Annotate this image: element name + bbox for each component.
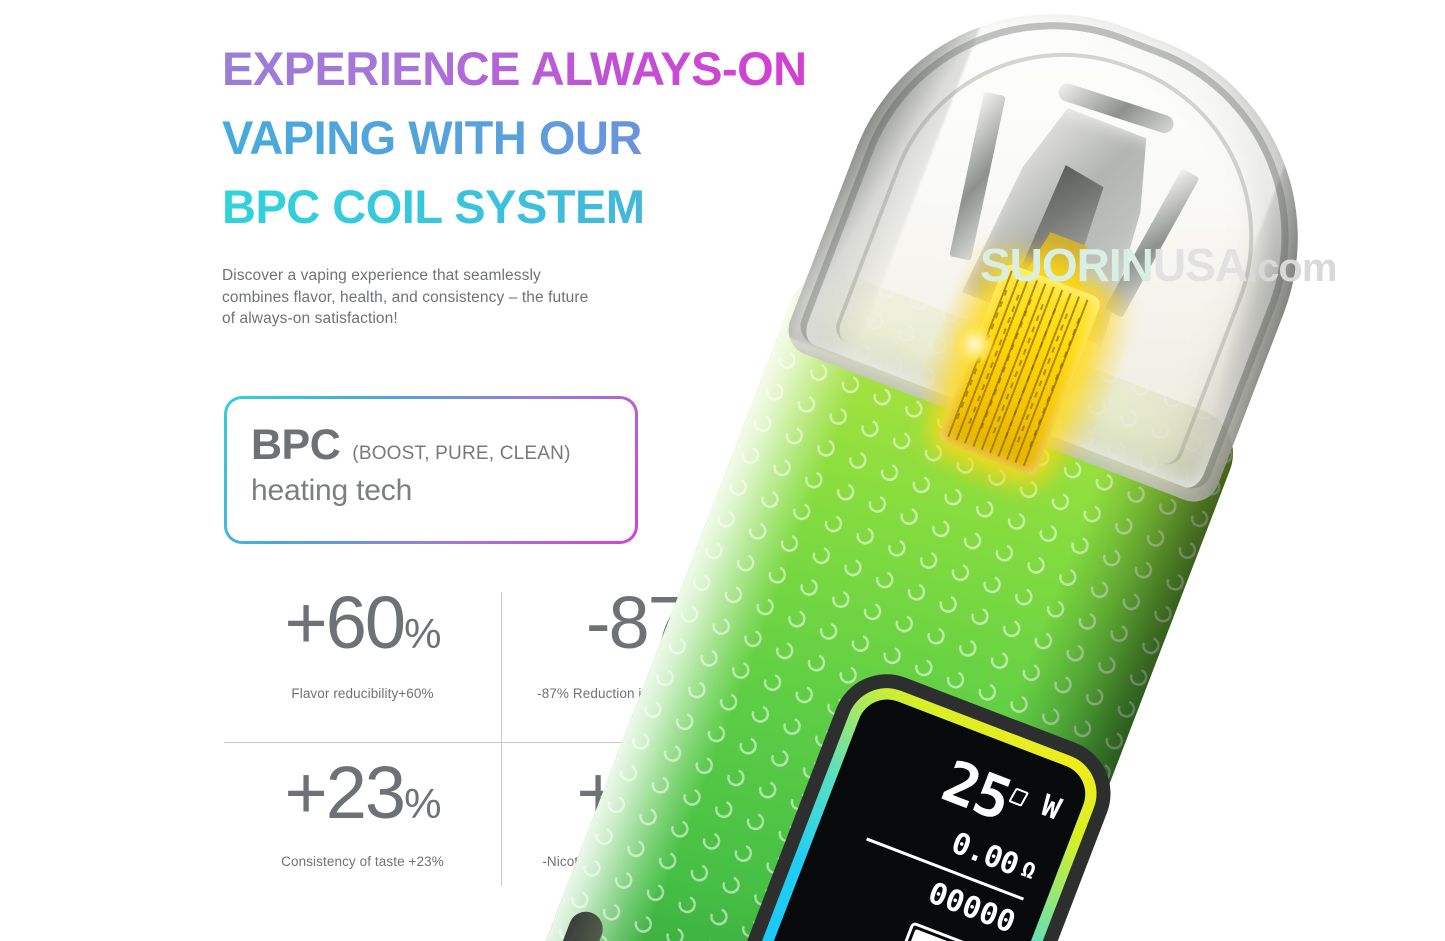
- chrome-strut-top: [1056, 81, 1176, 135]
- bpc-badge: BPC(BOOST, PURE, CLEAN) heating tech: [224, 396, 638, 544]
- headline-line-3: BPC COIL SYSTEM: [222, 172, 862, 241]
- battery-fill: [907, 929, 964, 941]
- bpc-badge-inner: BPC(BOOST, PURE, CLEAN) heating tech: [227, 399, 635, 541]
- puff-icon: [1008, 788, 1029, 807]
- stat-percent-sign: %: [696, 780, 732, 827]
- battery-icon: [899, 921, 1002, 941]
- pod-chimney-shadow: [1018, 163, 1111, 294]
- coil-mesh: [947, 270, 1093, 468]
- stat-percent-sign: %: [404, 780, 440, 827]
- lcd-separator: [866, 838, 1024, 901]
- stat-value: +12%: [516, 756, 793, 830]
- lcd-resistance-row: 0.00 Ω: [841, 785, 1040, 889]
- stat-percent-sign: %: [404, 610, 440, 657]
- stats-horizontal-divider: [224, 742, 832, 743]
- stat-number: +12: [577, 751, 697, 834]
- coil-glow: [894, 238, 1144, 517]
- lcd-wattage-unit: W: [1006, 776, 1064, 828]
- device-side-button: [546, 907, 608, 941]
- coil-zigzag: [955, 290, 1084, 451]
- coil-hotspot: [948, 318, 1000, 370]
- stat-label: Flavor reducibility+60%: [224, 686, 501, 701]
- transparent-pod: [781, 0, 1359, 509]
- headline: EXPERIENCE ALWAYS-ON VAPING WITH OUR BPC…: [222, 34, 862, 241]
- stat-value: -87%: [516, 586, 793, 660]
- stat-cell-atomization: +12% -Nicotine atomization efficiency+12…: [516, 756, 793, 869]
- stats-grid: +60% Flavor reducibility+60% -87% -87% R…: [224, 586, 832, 892]
- stat-number: +23: [285, 751, 405, 834]
- stat-label: Consistency of taste +23%: [224, 854, 501, 869]
- lcd-wattage-row: 25 W: [857, 721, 1065, 847]
- pod-rim-outer: [795, 0, 1347, 494]
- bpc-subtitle: heating tech: [251, 474, 635, 508]
- bpc-badge-title-row: BPC(BOOST, PURE, CLEAN): [251, 421, 635, 470]
- stat-label: -Nicotine atomization efficiency+12%: [516, 854, 793, 869]
- bpc-abbreviation: BPC: [251, 421, 340, 469]
- ohm-icon: Ω: [1018, 857, 1038, 885]
- lcd-wattage-unit-label: W: [1036, 788, 1064, 826]
- lcd-wattage-value: 25: [935, 752, 1017, 830]
- lcd-resistance-value: 0.00: [946, 826, 1022, 883]
- watermark-region: USA: [1153, 239, 1247, 291]
- stat-cell-consistency: +23% Consistency of taste +23%: [224, 756, 501, 869]
- stat-label: -87% Reduction in harmful substances: [516, 686, 793, 701]
- stat-value: +60%: [224, 586, 501, 660]
- chrome-strut-right: [1105, 168, 1200, 318]
- body-shadow-right: [848, 384, 1247, 941]
- bpc-expansion: (BOOST, PURE, CLEAN): [352, 443, 570, 464]
- promo-page: 25 W 0.00 Ω 00000: [0, 0, 1445, 941]
- watermark-tld: .com: [1247, 246, 1336, 290]
- watermark: SUORINUSA.com: [980, 238, 1336, 292]
- stat-number: +60: [285, 581, 405, 664]
- pod-edge-right: [1164, 154, 1342, 501]
- headline-line-1: EXPERIENCE ALWAYS-ON: [222, 34, 862, 103]
- stats-vertical-divider: [501, 592, 502, 886]
- stat-cell-harmful-substances: -87% -87% Reduction in harmful substance…: [516, 586, 793, 701]
- stat-cell-flavor: +60% Flavor reducibility+60%: [224, 586, 501, 701]
- stat-value: +23%: [224, 756, 501, 830]
- bpc-heating-coil: [938, 262, 1103, 477]
- chrome-strut-left: [949, 92, 1005, 261]
- watermark-brand: SUORIN: [980, 239, 1153, 291]
- lede-paragraph: Discover a vaping experience that seamle…: [222, 265, 594, 330]
- lcd-readout: 25 W 0.00 Ω 00000: [802, 721, 1064, 941]
- headline-line-2: VAPING WITH OUR: [222, 103, 862, 172]
- pod-rim-inner: [831, 0, 1305, 469]
- stat-percent-sign: %: [687, 610, 723, 657]
- lcd-puff-count: 00000: [821, 836, 1020, 940]
- pod-chimney: [962, 96, 1177, 346]
- stat-number: -87: [586, 581, 687, 664]
- coil-neck: [1019, 228, 1098, 306]
- copy-column: EXPERIENCE ALWAYS-ON VAPING WITH OUR BPC…: [222, 34, 862, 330]
